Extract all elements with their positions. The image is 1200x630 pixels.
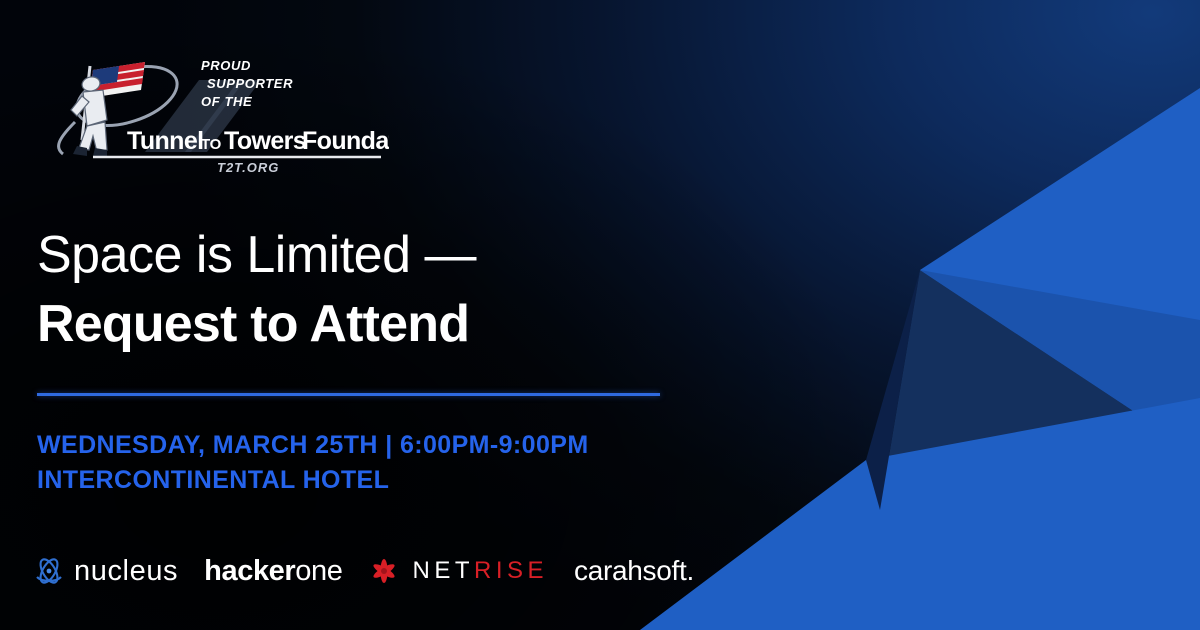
badge-line-3: OF THE: [201, 94, 252, 109]
org-url: T2T.ORG: [217, 160, 279, 174]
badge-line-1: PROUD: [201, 58, 251, 73]
netrise-wordmark-rise: RISE: [474, 557, 548, 584]
six-petal-star-icon: [368, 555, 400, 587]
event-details: WEDNESDAY, MARCH 25TH | 6:00PM-9:00PM IN…: [37, 428, 589, 497]
sponsor-logo-row: nucleus hackerone NETRISE: [31, 548, 694, 594]
headline: Space is Limited — Request to Attend: [37, 225, 737, 355]
event-datetime: WEDNESDAY, MARCH 25TH | 6:00PM-9:00PM: [37, 428, 589, 463]
headline-line-1: Space is Limited —: [37, 225, 737, 286]
headline-line-2: Request to Attend: [37, 294, 737, 355]
tunnel-to-towers-logo: PROUD SUPPORTER OF THE Tunnel TO Towers …: [49, 44, 389, 174]
promo-banner: PROUD SUPPORTER OF THE Tunnel TO Towers …: [0, 0, 1200, 630]
sponsor-logo-netrise: NETRISE: [368, 548, 574, 594]
sponsor-logo-hackerone: hackerone: [204, 548, 368, 594]
org-name-part-1: Tunnel: [127, 127, 203, 155]
content-column: PROUD SUPPORTER OF THE Tunnel TO Towers …: [37, 0, 757, 630]
carahsoft-wordmark: carahsoft.: [574, 555, 694, 587]
netrise-wordmark-net: NET: [412, 557, 474, 584]
atom-icon: [31, 555, 67, 587]
event-venue: INTERCONTINENTAL HOTEL: [37, 463, 589, 498]
sponsor-logo-carahsoft: carahsoft.: [574, 548, 694, 594]
org-name-part-3: Towers: [224, 127, 306, 155]
hackerone-wordmark-bold: hacker: [204, 555, 295, 587]
swoosh-tail: [59, 122, 75, 154]
org-name-part-4: Foundation: [302, 127, 389, 155]
divider-rule: [37, 393, 660, 396]
badge-line-2: SUPPORTER: [207, 76, 293, 91]
sponsor-logo-nucleus: nucleus: [31, 548, 204, 594]
hackerone-wordmark-light: one: [295, 555, 342, 587]
org-name-part-2: TO: [201, 136, 222, 153]
nucleus-wordmark: nucleus: [74, 555, 178, 588]
